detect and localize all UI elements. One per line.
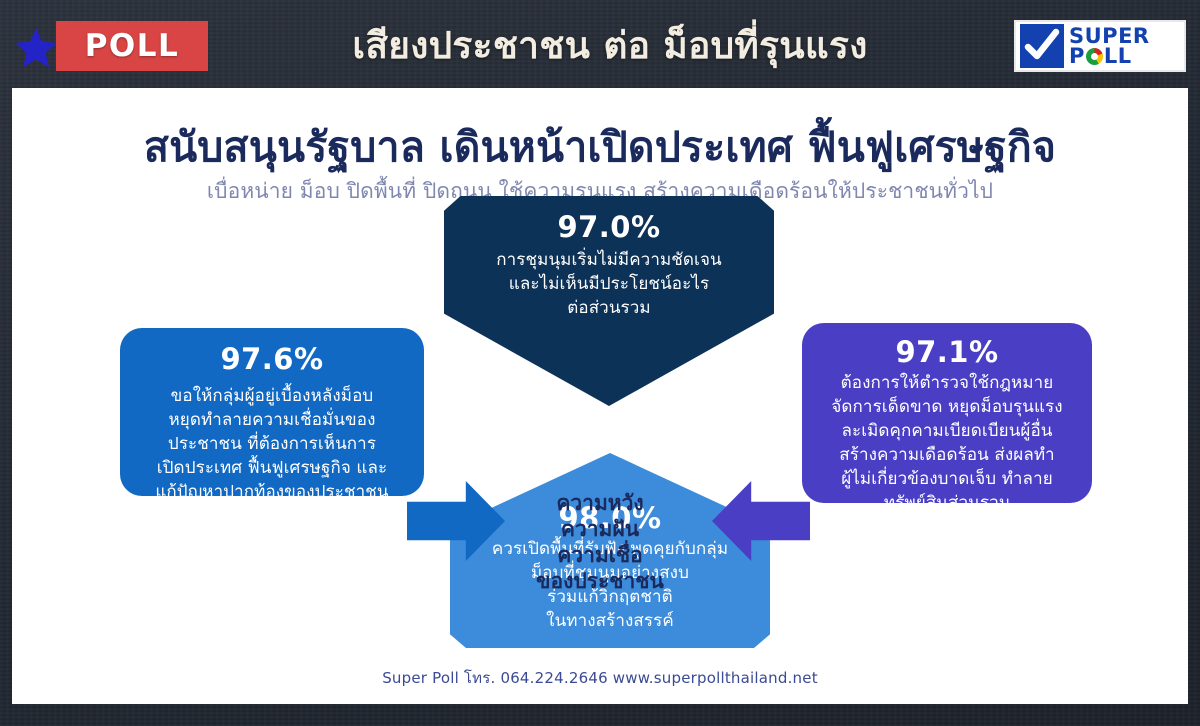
stat-line: ประชาชน ที่ต้องการเห็นการ (134, 432, 410, 456)
checkmark-icon (1020, 24, 1064, 68)
stat-description-top: การชุมนุมเริ่มไม่มีความชัดเจน และไม่เห็น… (466, 248, 752, 320)
stat-line: และไม่เห็นมีประโยชน์อะไร (466, 272, 752, 296)
stat-line: จัดการเด็ดขาด หยุดม็อบรุนแรง (812, 395, 1082, 419)
page-title: เสียงประชาชน ต่อ ม็อบที่รุนแรง (230, 22, 990, 70)
stat-line: ทรัพย์สินส่วนรวม (812, 491, 1082, 515)
stat-line: ผู้ไม่เกี่ยวข้องบาดเจ็บ ทำลาย (812, 467, 1082, 491)
logo-wordmark: SUPER P LL (1069, 26, 1150, 66)
content-canvas: สนับสนุนรัฐบาล เดินหน้าเปิดประเทศ ฟื้นฟู… (12, 88, 1188, 704)
stat-description-right: ต้องการให้ตำรวจใช้กฎหมาย จัดการเด็ดขาด ห… (812, 371, 1082, 515)
stat-card-right: 97.1% ต้องการให้ตำรวจใช้กฎหมาย จัดการเด็… (802, 323, 1092, 503)
center-label-line: ของประชาชน (500, 568, 700, 594)
footer-credit: Super Poll โทร. 064.224.2646 www.superpo… (12, 666, 1188, 690)
stat-line: สร้างความเดือดร้อน ส่งผลทำ (812, 443, 1082, 467)
logo-letters-ll: LL (1104, 46, 1132, 66)
stat-line: ต้องการให้ตำรวจใช้กฎหมาย (812, 371, 1082, 395)
center-label: ความหวัง ความฝัน ความเชื่อ ของประชาชน (500, 490, 700, 594)
poll-badge: POLL (56, 21, 208, 71)
poll-badge-label: POLL (85, 28, 180, 64)
stat-line: หยุดทำลายความเชื่อมั่นของ (134, 408, 410, 432)
header-bar: POLL เสียงประชาชน ต่อ ม็อบที่รุนแรง SUPE… (0, 0, 1200, 88)
center-label-line: ความเชื่อ (500, 542, 700, 568)
stat-card-left: 97.6% ขอให้กลุ่มผู้อยู่เบื้องหลังม็อบ หย… (120, 328, 424, 496)
stat-line: ละเมิดคุกคามเบียดเบียนผู้อื่น (812, 419, 1082, 443)
stat-line: การชุมนุมเริ่มไม่มีความชัดเจน (466, 248, 752, 272)
diagram-area: 97.0% การชุมนุมเริ่มไม่มีความชัดเจน และไ… (12, 218, 1188, 648)
stat-description-left: ขอให้กลุ่มผู้อยู่เบื้องหลังม็อบ หยุดทำลา… (134, 384, 410, 504)
stat-line: เปิดประเทศ ฟื้นฟูเศรษฐกิจ และ (134, 456, 410, 480)
logo-word-poll: P LL (1069, 46, 1150, 66)
star-icon (14, 26, 58, 70)
stat-line: ในทางสร้างสรรค์ (466, 609, 754, 633)
stat-value-right: 97.1% (812, 335, 1082, 369)
center-label-line: ความฝัน (500, 516, 700, 542)
pie-chart-icon (1086, 48, 1103, 65)
center-label-line: ความหวัง (500, 490, 700, 516)
logo-word-super: SUPER (1069, 26, 1150, 46)
superpoll-logo: SUPER P LL (1014, 20, 1186, 72)
stat-line: ต่อส่วนรวม (466, 296, 752, 320)
main-heading: สนับสนุนรัฐบาล เดินหน้าเปิดประเทศ ฟื้นฟู… (12, 121, 1188, 173)
stat-value-left: 97.6% (134, 342, 410, 376)
stat-value-top: 97.0% (466, 210, 752, 244)
poll-infographic-poster: POLL เสียงประชาชน ต่อ ม็อบที่รุนแรง SUPE… (0, 0, 1200, 726)
stat-line: แก้ปัญหาปากท้องของประชาชน (134, 480, 410, 504)
logo-letter-p: P (1069, 46, 1085, 66)
stat-line: ขอให้กลุ่มผู้อยู่เบื้องหลังม็อบ (134, 384, 410, 408)
stat-card-top: 97.0% การชุมนุมเริ่มไม่มีความชัดเจน และไ… (444, 196, 774, 406)
